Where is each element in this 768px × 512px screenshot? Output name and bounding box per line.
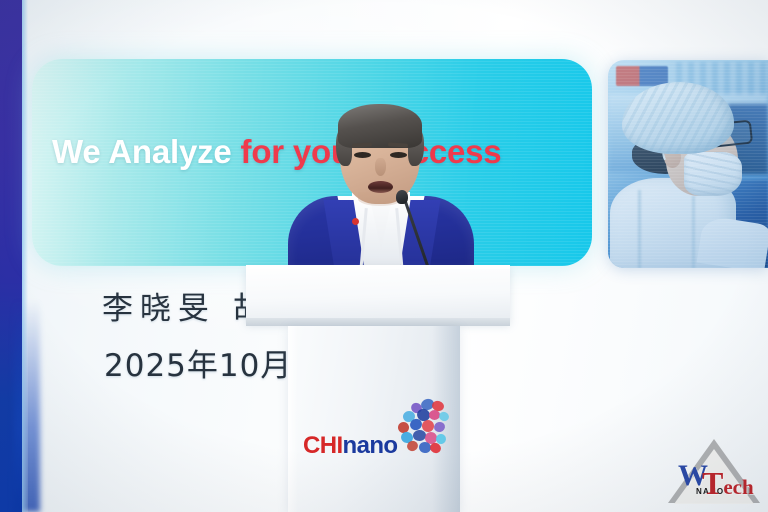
watermark: NANO W Tech	[668, 437, 764, 507]
podium-top-highlight	[246, 265, 510, 269]
speaker-lapel-pin	[352, 218, 359, 225]
slide-slogan: We Analyze for your success	[52, 133, 572, 171]
slide-lab-photo	[608, 60, 768, 268]
watermark-tech-text: Tech	[702, 465, 754, 502]
speaker-nose	[375, 158, 386, 176]
speaker-mouth	[368, 181, 393, 193]
podium-body-highlight	[288, 326, 298, 512]
podium-top-edge	[246, 318, 510, 326]
speaker-eye-right	[390, 152, 407, 158]
logo-dot	[433, 421, 446, 434]
chinano-wordmark: CHInano	[303, 432, 397, 460]
slogan-white-text: We Analyze	[52, 133, 232, 170]
microphone-head	[396, 190, 408, 204]
presentation-photo: We Analyze for your success 李晓旻 胡 2025年1…	[0, 0, 768, 512]
chinano-logo: CHInano	[303, 398, 443, 464]
slide-date: 2025年10月	[104, 340, 292, 385]
podium-top-surface	[246, 265, 510, 323]
speaker-hair	[338, 104, 422, 148]
logo-dot	[438, 411, 450, 423]
speaker-eye-left	[354, 152, 371, 158]
photo-scanlines	[608, 60, 768, 268]
logo-dot-cluster-icon	[395, 398, 451, 454]
logo-nano-text: nano	[343, 432, 398, 459]
logo-chi-text: CHI	[303, 432, 343, 459]
left-wall-band-edge	[22, 0, 28, 512]
